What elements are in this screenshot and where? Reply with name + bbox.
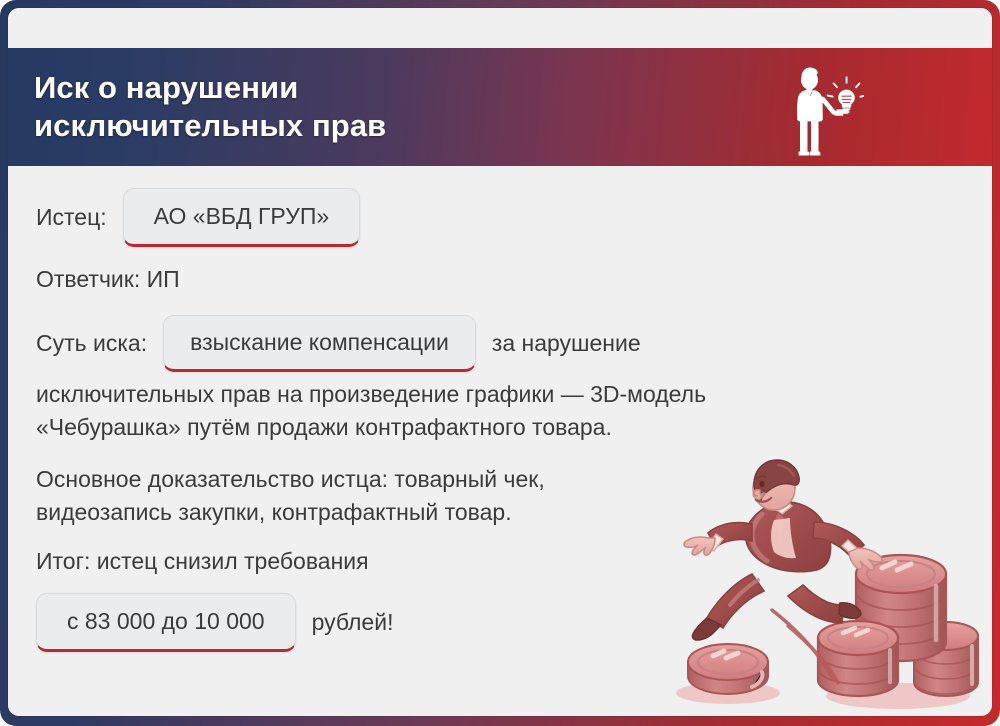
spacer: [36, 577, 964, 593]
outcome-row: с 83 000 до 10 000 рублей!: [36, 593, 964, 652]
card-header: Иск о нарушении исключительных прав: [8, 48, 992, 166]
evidence-text: Основное доказательство истца: товарный …: [36, 463, 676, 528]
spacer: [36, 443, 964, 463]
outcome-suffix-text: рублей!: [312, 606, 394, 639]
claim-label: Суть иска:: [36, 327, 147, 360]
businessman-with-lightbulb-icon: [786, 56, 864, 158]
plaintiff-value-chip[interactable]: АО «ВБД ГРУП»: [123, 188, 361, 247]
page-title: Иск о нарушении исключительных прав: [34, 69, 386, 145]
card-body: Истец: АО «ВБД ГРУП» Ответчик: ИП Суть и…: [8, 166, 992, 716]
outcome-lead-text: Итог: истец снизил требования: [36, 545, 796, 578]
plaintiff-label: Истец:: [36, 201, 107, 234]
plaintiff-row: Истец: АО «ВБД ГРУП»: [36, 188, 964, 247]
claim-subject-chip[interactable]: взыскание компенсации: [163, 315, 476, 372]
spacer: [36, 529, 964, 545]
card-frame: Иск о нарушении исключительных прав: [0, 0, 1000, 726]
outcome-amount-chip[interactable]: с 83 000 до 10 000: [36, 593, 296, 652]
claim-continuation-text: исключительных прав на произведение граф…: [36, 378, 796, 443]
info-card: Иск о нарушении исключительных прав: [8, 8, 992, 716]
defendant-text: Ответчик: ИП: [36, 263, 180, 296]
claim-row: Суть иска: взыскание компенсации за нару…: [36, 315, 964, 372]
claim-after-chip-text: за нарушение: [492, 327, 641, 360]
top-blank-strip: [8, 8, 992, 48]
defendant-row: Ответчик: ИП: [36, 263, 964, 296]
